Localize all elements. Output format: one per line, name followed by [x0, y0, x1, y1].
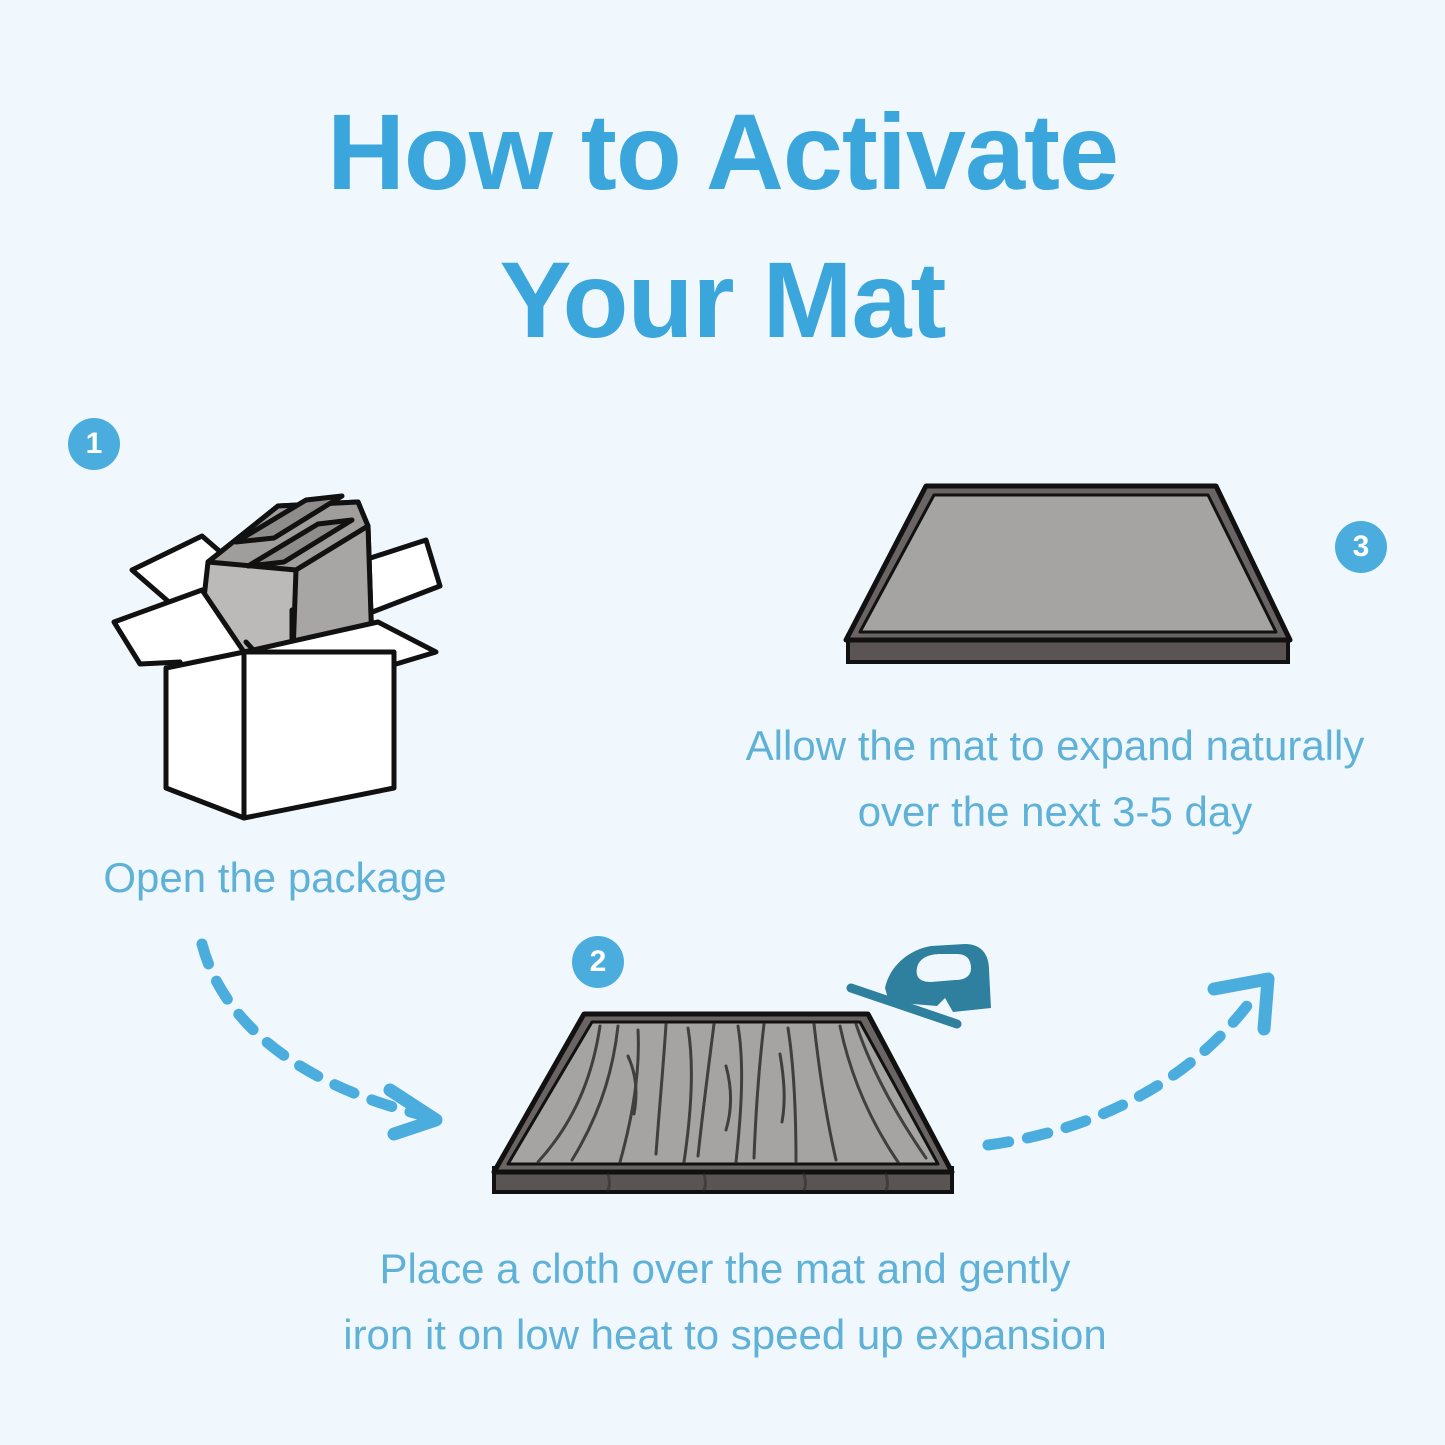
iron-handle-cutout	[917, 954, 971, 982]
box-face-left	[166, 652, 244, 818]
box-face-front	[244, 652, 394, 818]
expanded-mat-svg	[828, 468, 1308, 683]
step-1-caption-line-1: Open the package	[40, 845, 510, 911]
step-1-caption: Open the package	[40, 845, 510, 911]
expanded-mat-illustration	[828, 468, 1308, 683]
mat-with-cloth-svg	[488, 996, 958, 1221]
step-3-caption-line-1: Allow the mat to expand naturally	[670, 713, 1440, 779]
page-title-line-2: Your Mat	[0, 226, 1445, 374]
arrow-head	[390, 1090, 436, 1134]
dashed-arrow-step1-to-step2	[168, 928, 508, 1143]
step-badge-1: 1	[68, 418, 120, 470]
step-badge-2: 2	[572, 936, 624, 988]
mat-with-cloth-illustration	[488, 996, 958, 1221]
step-2-caption-line-2: iron it on low heat to speed up expansio…	[255, 1302, 1195, 1368]
open-box-svg	[96, 470, 476, 830]
page-title: How to Activate Your Mat	[0, 78, 1445, 374]
dashed-arrow-step2-to-step3	[978, 955, 1298, 1165]
step-badge-3: 3	[1335, 521, 1387, 573]
arrow-dashed-path	[988, 991, 1258, 1145]
mat3-surface	[860, 495, 1276, 632]
step-2-caption: Place a cloth over the mat and gently ir…	[255, 1236, 1195, 1368]
infographic-canvas: How to Activate Your Mat 1	[0, 0, 1445, 1445]
page-title-line-1: How to Activate	[0, 78, 1445, 226]
step-2-caption-line-1: Place a cloth over the mat and gently	[255, 1236, 1195, 1302]
step-3-caption: Allow the mat to expand naturally over t…	[670, 713, 1440, 845]
open-box-illustration	[96, 470, 476, 830]
dashed-curved-arrow-down-right-icon	[168, 928, 508, 1143]
dashed-curved-arrow-up-right-icon	[978, 955, 1298, 1165]
step-3-caption-line-2: over the next 3-5 day	[670, 779, 1440, 845]
